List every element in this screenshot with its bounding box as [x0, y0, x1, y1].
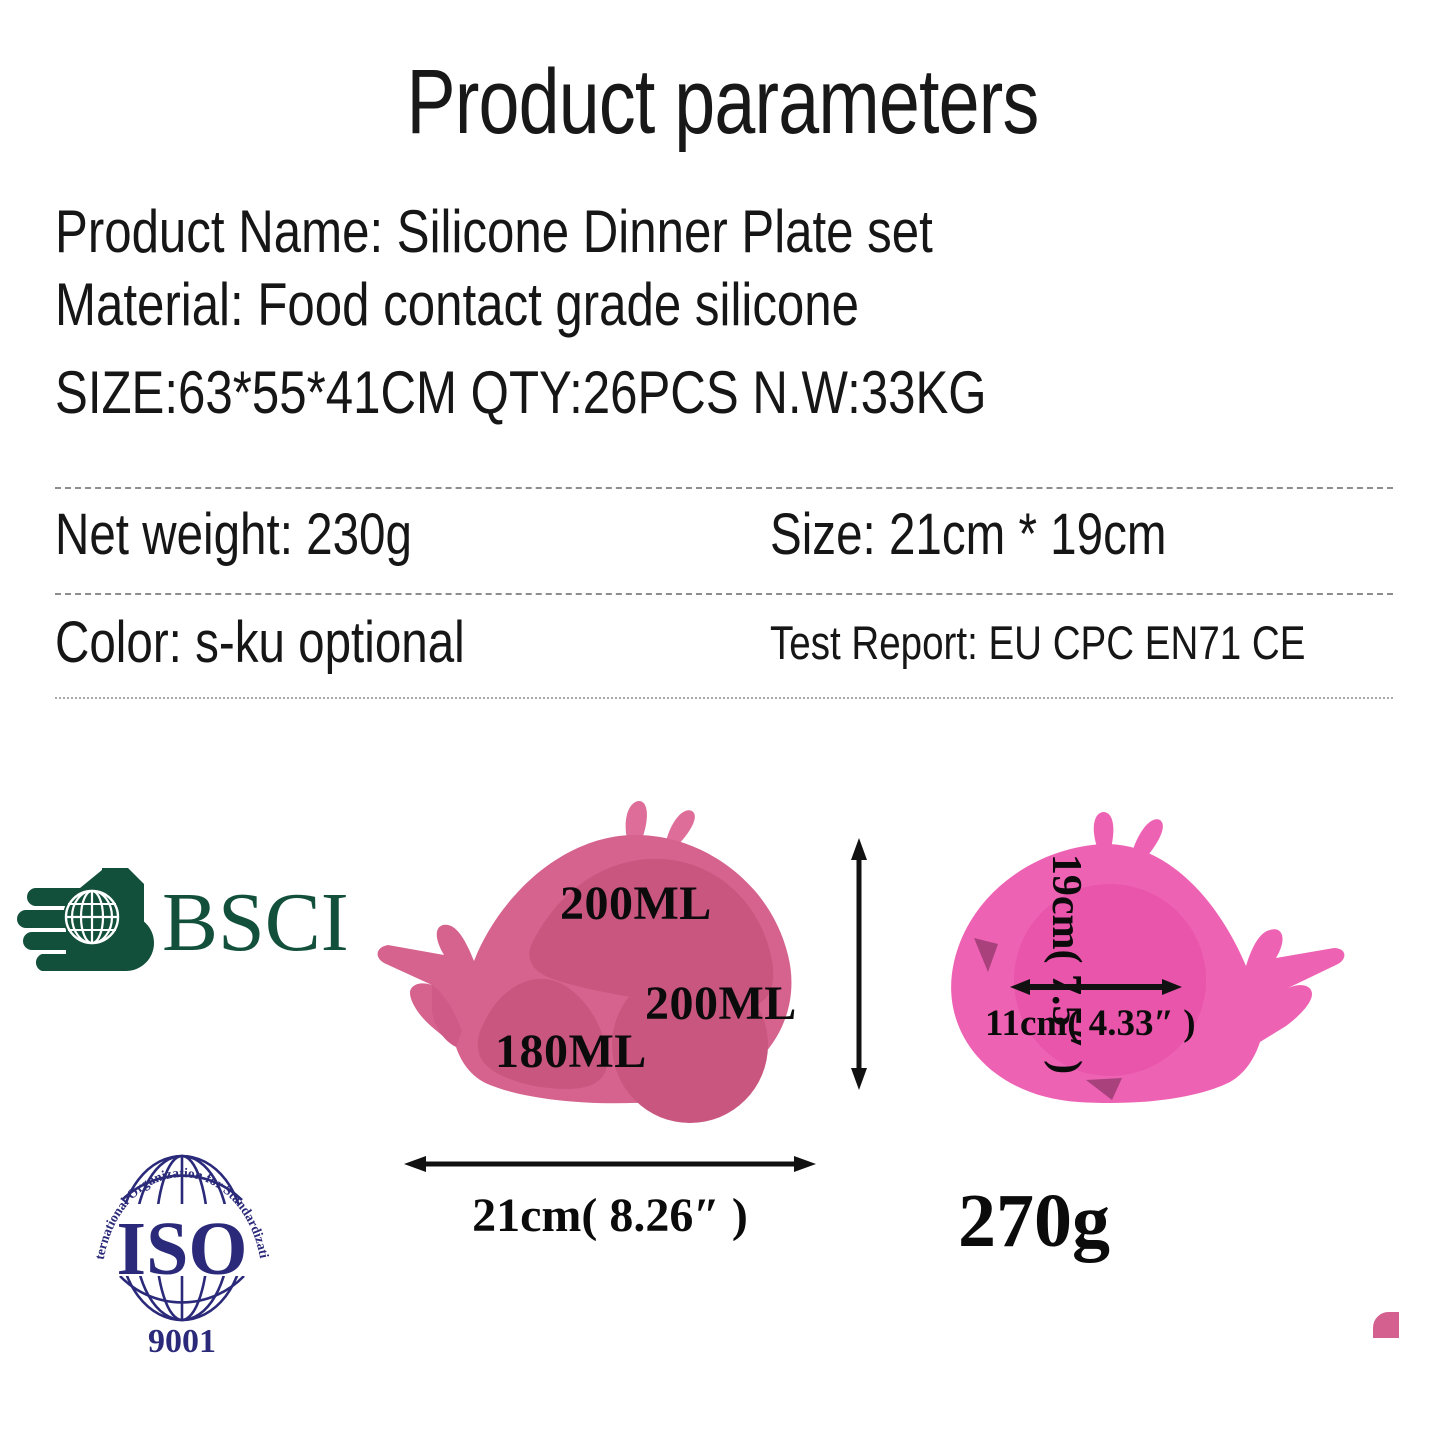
spec-color: Color: s-ku optional: [55, 608, 465, 678]
iso-logo: ISO International Organization for Stand…: [82, 1128, 282, 1368]
height-dimension-label: 19cm( 7.5″ ): [1030, 838, 1090, 1090]
whale-plate-front-view: [370, 795, 830, 1145]
bsci-wordmark: BSCI: [162, 876, 349, 969]
height-dimension-arrow: [850, 838, 868, 1090]
spec-material: Material: Food contact grade silicone: [55, 268, 1154, 342]
gross-weight-label: 270g: [958, 1178, 1110, 1265]
compartment-label-200ml-round: 200ML: [645, 976, 797, 1031]
spec-size: Size: 21cm * 19cm: [770, 500, 1166, 570]
suction-diameter-label: 11cm( 4.33″ ): [985, 1002, 1196, 1045]
suction-diameter-arrow: [1010, 978, 1182, 996]
iso-number: 9001: [148, 1323, 216, 1360]
spec-carton-info: SIZE:63*55*41CM QTY:26PCS N.W:33KG: [55, 354, 1154, 432]
spec-product-name: Product Name: Silicone Dinner Plate set: [55, 196, 1154, 268]
divider-1: [55, 487, 1393, 489]
product-parameters-page: Product parameters Product Name: Silicon…: [0, 0, 1445, 1445]
compartment-label-180ml: 180ML: [495, 1024, 647, 1079]
width-dimension-label: 21cm( 8.26″ ): [404, 1188, 816, 1243]
whale-plate-back-view: [930, 812, 1360, 1142]
compartment-label-200ml-top: 200ML: [560, 876, 712, 931]
page-title: Product parameters: [145, 56, 1301, 148]
bsci-logo: BSCI: [14, 862, 354, 972]
spec-row-net-weight: Net weight: 230g Size: 21cm * 19cm: [55, 500, 1395, 596]
image-corner-fragment: [1373, 1312, 1399, 1338]
spec-row-color: Color: s-ku optional Test Report: EU CPC…: [55, 608, 1395, 704]
globe-icon: [63, 888, 121, 946]
spec-net-weight: Net weight: 230g: [55, 500, 412, 570]
iso-wordmark: ISO: [117, 1207, 248, 1291]
width-dimension-arrow: [404, 1155, 816, 1173]
spec-test-report: Test Report: EU CPC EN71 CE: [770, 614, 1305, 672]
spec-text-block: Product Name: Silicone Dinner Plate set …: [55, 196, 1395, 432]
